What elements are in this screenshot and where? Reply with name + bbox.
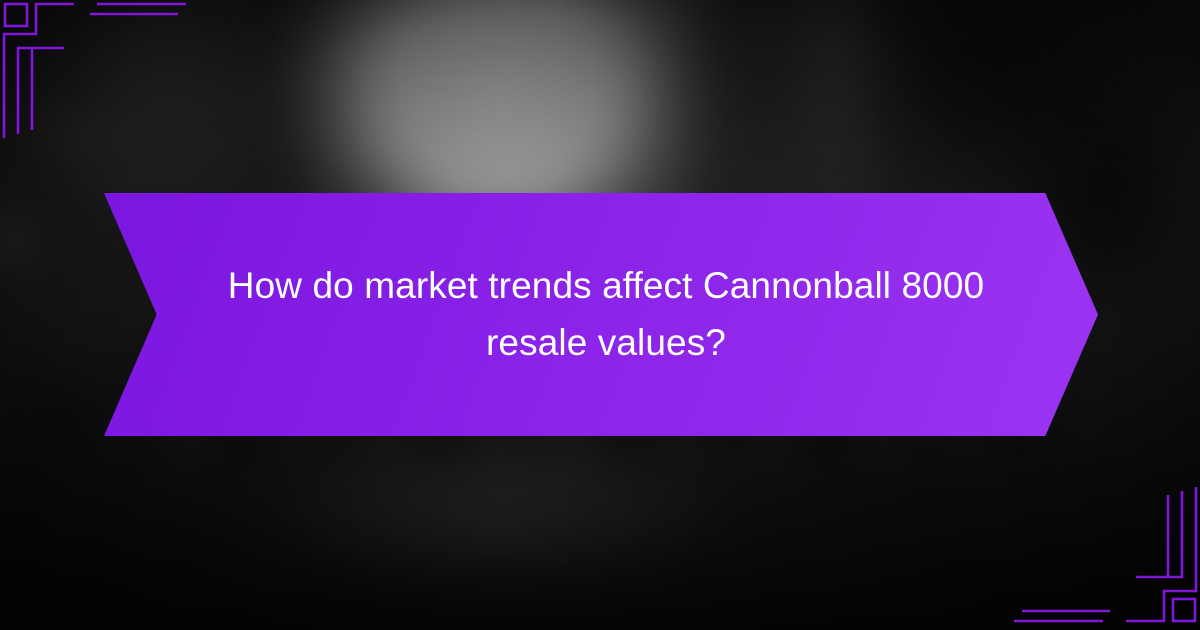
corner-bracket-bottom-right bbox=[1000, 465, 1200, 630]
share-card-canvas: How do market trends affect Cannonball 8… bbox=[0, 0, 1200, 630]
corner-bracket-top-left bbox=[0, 0, 200, 165]
headline-banner: How do market trends affect Cannonball 8… bbox=[104, 193, 1098, 436]
corner-bracket-bottom-right-icon bbox=[1000, 465, 1200, 625]
corner-bracket-top-left-icon bbox=[0, 0, 200, 160]
headline-text: How do market trends affect Cannonball 8… bbox=[211, 258, 1001, 370]
